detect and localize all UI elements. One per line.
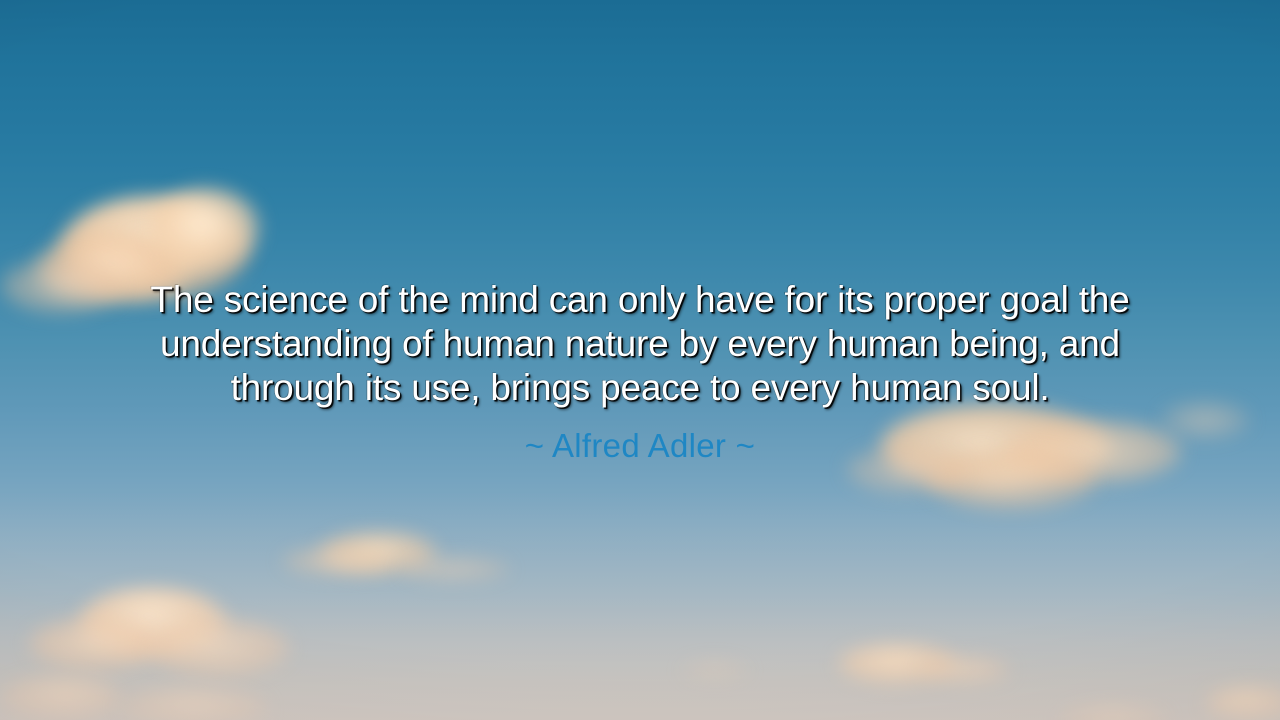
quote-card: The science of the mind can only have fo… [0,0,1280,720]
horizon-haze-overlay [0,490,1280,720]
cloud-upper-left-crest [150,188,260,268]
quote-attribution: ~ Alfred Adler ~ [85,410,1195,466]
quote-block: The science of the mind can only have fo… [85,278,1195,466]
quote-text: The science of the mind can only have fo… [85,278,1195,410]
